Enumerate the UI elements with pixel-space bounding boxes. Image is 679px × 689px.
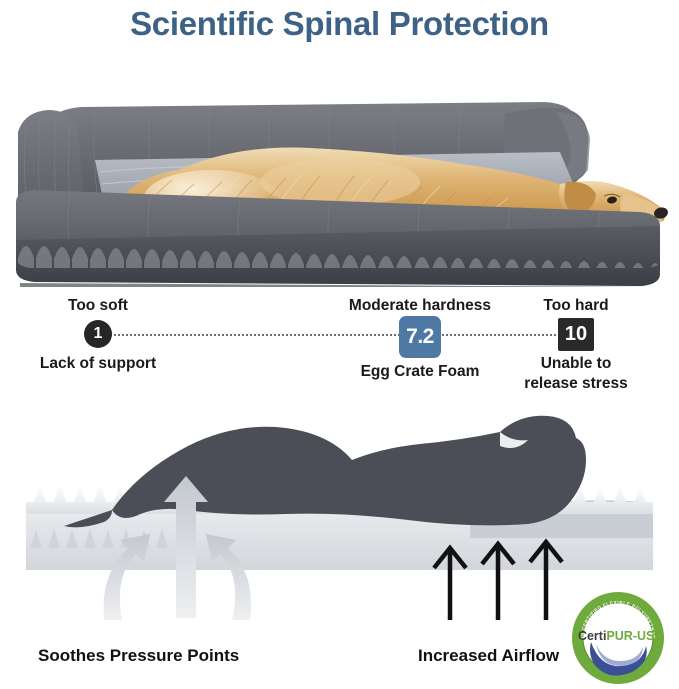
certipur-trademark: ®: [654, 630, 658, 637]
hero-product-photo: [0, 52, 679, 287]
scale-badge-1: 1: [84, 320, 112, 348]
scale-badge-3: 10: [558, 318, 594, 351]
scale-label-top-1: Too soft: [38, 296, 158, 315]
page-title: Scientific Spinal Protection: [0, 2, 679, 46]
certipur-us-logo: CONTAINS CERTIFIED FLEXIBLE POLYURETHANE…: [570, 590, 666, 686]
scale-label-bottom-3-line1: Unable to: [506, 354, 646, 374]
scale-label-bottom-2: Egg Crate Foam: [330, 362, 510, 382]
caption-increased-airflow: Increased Airflow: [418, 645, 559, 667]
certipur-seal-icon: CONTAINS CERTIFIED FLEXIBLE POLYURETHANE…: [570, 590, 666, 686]
scale-label-top-3: Too hard: [511, 296, 641, 315]
infographic-page: Scientific Spinal Protection: [0, 0, 679, 689]
scale-dotted-line: [98, 334, 568, 336]
scale-badge-2: 7.2: [399, 316, 441, 358]
certipur-wordmark: CertiPUR-US®: [578, 629, 658, 643]
certipur-word-pur: PUR-US: [606, 629, 654, 643]
certipur-word-certi: Certi: [578, 629, 606, 643]
caption-soothes-pressure-points: Soothes Pressure Points: [38, 645, 239, 667]
dog-bed-illustration: [0, 52, 679, 287]
scale-label-top-2: Moderate hardness: [330, 296, 510, 315]
scale-label-bottom-3-line2: release stress: [506, 374, 646, 394]
scale-label-bottom-1: Lack of support: [18, 354, 178, 374]
hardness-scale: Too soft 1 Lack of support Moderate hard…: [0, 292, 679, 392]
